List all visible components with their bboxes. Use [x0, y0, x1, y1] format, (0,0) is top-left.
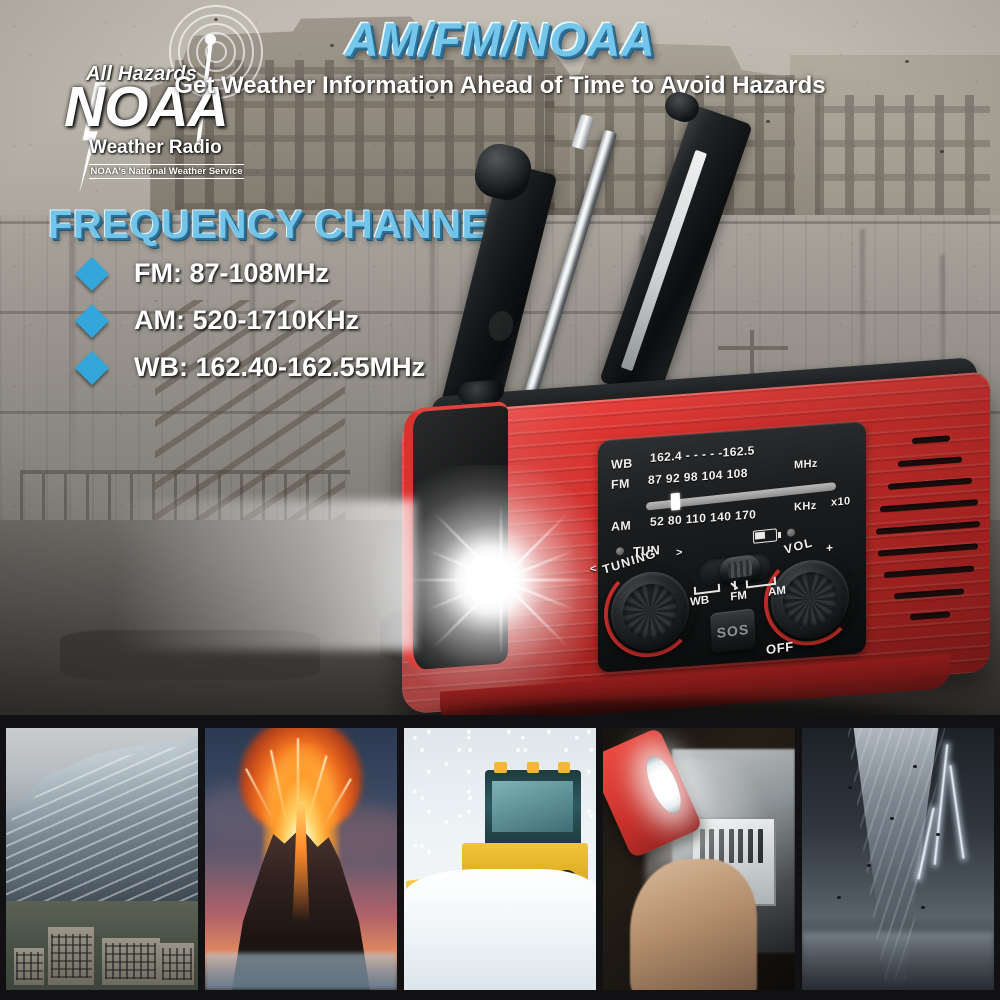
- frequency-am-label: AM: 520-1710KHz: [134, 305, 359, 336]
- diamond-bullet-icon: [75, 257, 109, 291]
- solar-panel-handle: [599, 105, 753, 401]
- list-item[interactable]: [603, 728, 795, 990]
- list-item[interactable]: [404, 728, 596, 990]
- page-subtitle: Get Weather Information Ahead of Time to…: [0, 72, 1000, 100]
- debris-ground: [802, 932, 994, 990]
- diamond-bullet-icon: [75, 304, 109, 338]
- list-item: AM: 520-1710KHz: [80, 297, 425, 344]
- product-marketing-image: All Hazards NOAA Weather Radio NOAA's Na…: [0, 0, 1000, 1000]
- speaker-grille-icon: [872, 419, 984, 657]
- hand-holding-flashlight: [630, 859, 757, 990]
- emergency-radio-product: WB FM AM 162.4 - - - - -162.5 87 92 98 1…: [380, 105, 1000, 705]
- tuning-left-arrow-icon: <: [590, 563, 598, 576]
- list-item[interactable]: [6, 728, 198, 990]
- dial-scale-am: 52 80 110 140 170: [650, 507, 756, 529]
- dial-scale-wb: 162.4 - - - - -162.5: [650, 443, 755, 465]
- dial-scale-fm: 87 92 98 104 108: [648, 466, 748, 487]
- use-case-gallery: [0, 715, 1000, 1000]
- diamond-bullet-icon: [75, 351, 109, 385]
- dial-unit-khz: KHz: [794, 500, 817, 514]
- frequency-fm-label: FM: 87-108MHz: [134, 258, 329, 289]
- band-option-fm: FM: [730, 589, 747, 603]
- off-label: OFF: [766, 639, 795, 657]
- list-item: WB: 162.40-162.55MHz: [80, 344, 425, 391]
- charge-led-icon: [787, 528, 795, 537]
- snow-bank: [404, 869, 596, 990]
- dial-band-wb: WB: [611, 456, 633, 472]
- led-indicator-icon: [616, 547, 624, 556]
- list-item[interactable]: [205, 728, 397, 990]
- glacier-base: [205, 953, 397, 990]
- dial-multiplier: x10: [831, 495, 851, 508]
- antenna-tip-segment: [571, 114, 594, 151]
- top-power-button[interactable]: [458, 379, 504, 404]
- logo-weather-radio-text: Weather Radio: [89, 137, 222, 159]
- battery-icon: [753, 528, 777, 544]
- list-item[interactable]: [802, 728, 994, 990]
- tuning-pointer[interactable]: [671, 493, 681, 511]
- frequency-list: FM: 87-108MHz AM: 520-1710KHz WB: 162.40…: [80, 250, 425, 391]
- flashlight-housing: [404, 401, 508, 671]
- list-item: FM: 87-108MHz: [80, 250, 425, 297]
- sos-button[interactable]: SOS: [710, 608, 756, 653]
- dial-unit-mhz: MHz: [794, 458, 818, 472]
- band-option-am: AM: [768, 585, 786, 599]
- tuning-right-arrow-icon: >: [676, 547, 684, 560]
- band-option-wb: WB: [690, 594, 710, 608]
- volume-plus-icon: +: [826, 540, 834, 555]
- radio-control-panel: WB FM AM 162.4 - - - - -162.5 87 92 98 1…: [598, 421, 866, 673]
- page-title: AM/FM/NOAA: [0, 12, 1000, 67]
- dial-band-am: AM: [611, 518, 631, 533]
- logo-agency-text: NOAA's National Weather Service: [89, 164, 244, 179]
- dial-band-fm: FM: [611, 477, 630, 492]
